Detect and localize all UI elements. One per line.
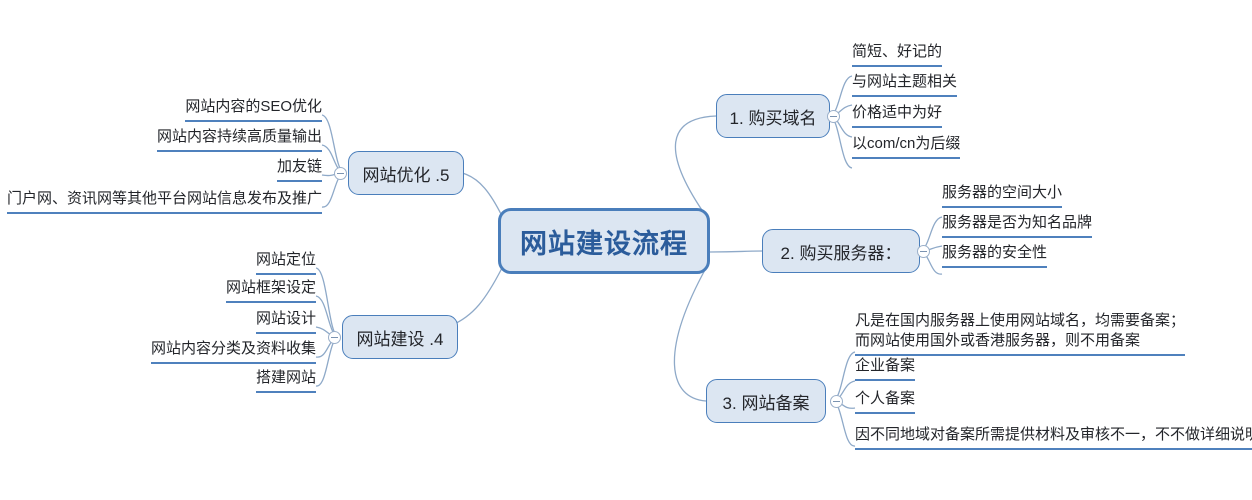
leaf-item[interactable]: 企业备案	[855, 356, 915, 381]
branch-node-3[interactable]: 3. 网站备案	[706, 379, 826, 423]
branch-node-2[interactable]: 2. 购买服务器：	[762, 229, 920, 273]
leaf-label-line-1: 凡是在国内服务器上使用网站域名，均需要备案；	[855, 311, 1185, 331]
collapse-toggle-branch-3[interactable]	[830, 395, 843, 408]
leaf-label: 搭建网站	[256, 369, 316, 386]
branch-node-4[interactable]: 网站建设 .4	[342, 315, 458, 359]
leaf-item[interactable]: 网站设计	[256, 309, 316, 334]
leaf-item[interactable]: 与网站主题相关	[852, 72, 957, 97]
leaf-item[interactable]: 门户网、资讯网等其他平台网站信息发布及推广	[7, 189, 322, 214]
leaf-item[interactable]: 凡是在国内服务器上使用网站域名，均需要备案； 而网站使用国外或香港服务器，则不用…	[855, 311, 1185, 356]
leaf-label: 因不同地域对备案所需提供材料及审核不一，不不做详细说明	[855, 426, 1252, 443]
leaf-label: 网站设计	[256, 310, 316, 327]
leaf-label: 服务器是否为知名品牌	[942, 214, 1092, 231]
leaf-label: 简短、好记的	[852, 43, 942, 60]
branch-label-3: 3. 网站备案	[723, 389, 810, 414]
collapse-toggle-branch-5[interactable]	[334, 167, 347, 180]
leaf-label: 网站内容的SEO优化	[185, 98, 322, 115]
leaf-label-line-2: 而网站使用国外或香港服务器，则不用备案	[855, 331, 1185, 351]
branch-label-5: 网站优化 .5	[363, 161, 450, 186]
leaf-label: 服务器的空间大小	[942, 184, 1062, 201]
collapse-toggle-branch-4[interactable]	[328, 331, 341, 344]
leaf-item[interactable]: 网站定位	[256, 250, 316, 275]
leaf-label: 网站内容分类及资料收集	[151, 340, 316, 357]
leaf-item[interactable]: 服务器是否为知名品牌	[942, 213, 1092, 238]
branch-node-1[interactable]: 1. 购买域名	[716, 94, 830, 138]
leaf-label: 以com/cn为后缀	[852, 135, 960, 152]
leaf-item[interactable]: 价格适中为好	[852, 103, 942, 128]
leaf-item[interactable]: 简短、好记的	[852, 42, 942, 67]
leaf-item[interactable]: 因不同地域对备案所需提供材料及审核不一，不不做详细说明	[855, 425, 1252, 450]
leaf-label: 个人备案	[855, 390, 915, 407]
leaf-item[interactable]: 网站内容分类及资料收集	[151, 339, 316, 364]
leaf-label: 网站定位	[256, 251, 316, 268]
leaf-item[interactable]: 以com/cn为后缀	[852, 134, 960, 159]
leaf-item[interactable]: 网站内容的SEO优化	[185, 97, 322, 122]
leaf-label: 与网站主题相关	[852, 73, 957, 90]
leaf-item[interactable]: 搭建网站	[256, 368, 316, 393]
leaf-label: 网站内容持续高质量输出	[157, 128, 322, 145]
leaf-label: 门户网、资讯网等其他平台网站信息发布及推广	[7, 190, 322, 207]
leaf-label: 企业备案	[855, 357, 915, 374]
collapse-toggle-branch-1[interactable]	[827, 110, 840, 123]
leaf-item[interactable]: 服务器的空间大小	[942, 183, 1062, 208]
branch-node-5[interactable]: 网站优化 .5	[348, 151, 464, 195]
leaf-item[interactable]: 加友链	[277, 157, 322, 182]
branch-label-2: 2. 购买服务器：	[781, 239, 902, 264]
leaf-label: 加友链	[277, 158, 322, 175]
branch-label-1: 1. 购买域名	[730, 104, 817, 129]
mindmap-canvas: 网站建设流程 1. 购买域名 简短、好记的 与网站主题相关 价格适中为好 以co…	[0, 0, 1252, 500]
root-label: 网站建设流程	[520, 222, 688, 261]
leaf-item[interactable]: 网站框架设定	[226, 278, 316, 303]
root-node[interactable]: 网站建设流程	[498, 208, 710, 274]
leaf-label: 价格适中为好	[852, 104, 942, 121]
leaf-label: 网站框架设定	[226, 279, 316, 296]
leaf-item[interactable]: 个人备案	[855, 389, 915, 414]
branch-label-4: 网站建设 .4	[357, 325, 444, 350]
leaf-label: 服务器的安全性	[942, 244, 1047, 261]
leaf-item[interactable]: 网站内容持续高质量输出	[157, 127, 322, 152]
collapse-toggle-branch-2[interactable]	[917, 245, 930, 258]
leaf-item[interactable]: 服务器的安全性	[942, 243, 1047, 268]
